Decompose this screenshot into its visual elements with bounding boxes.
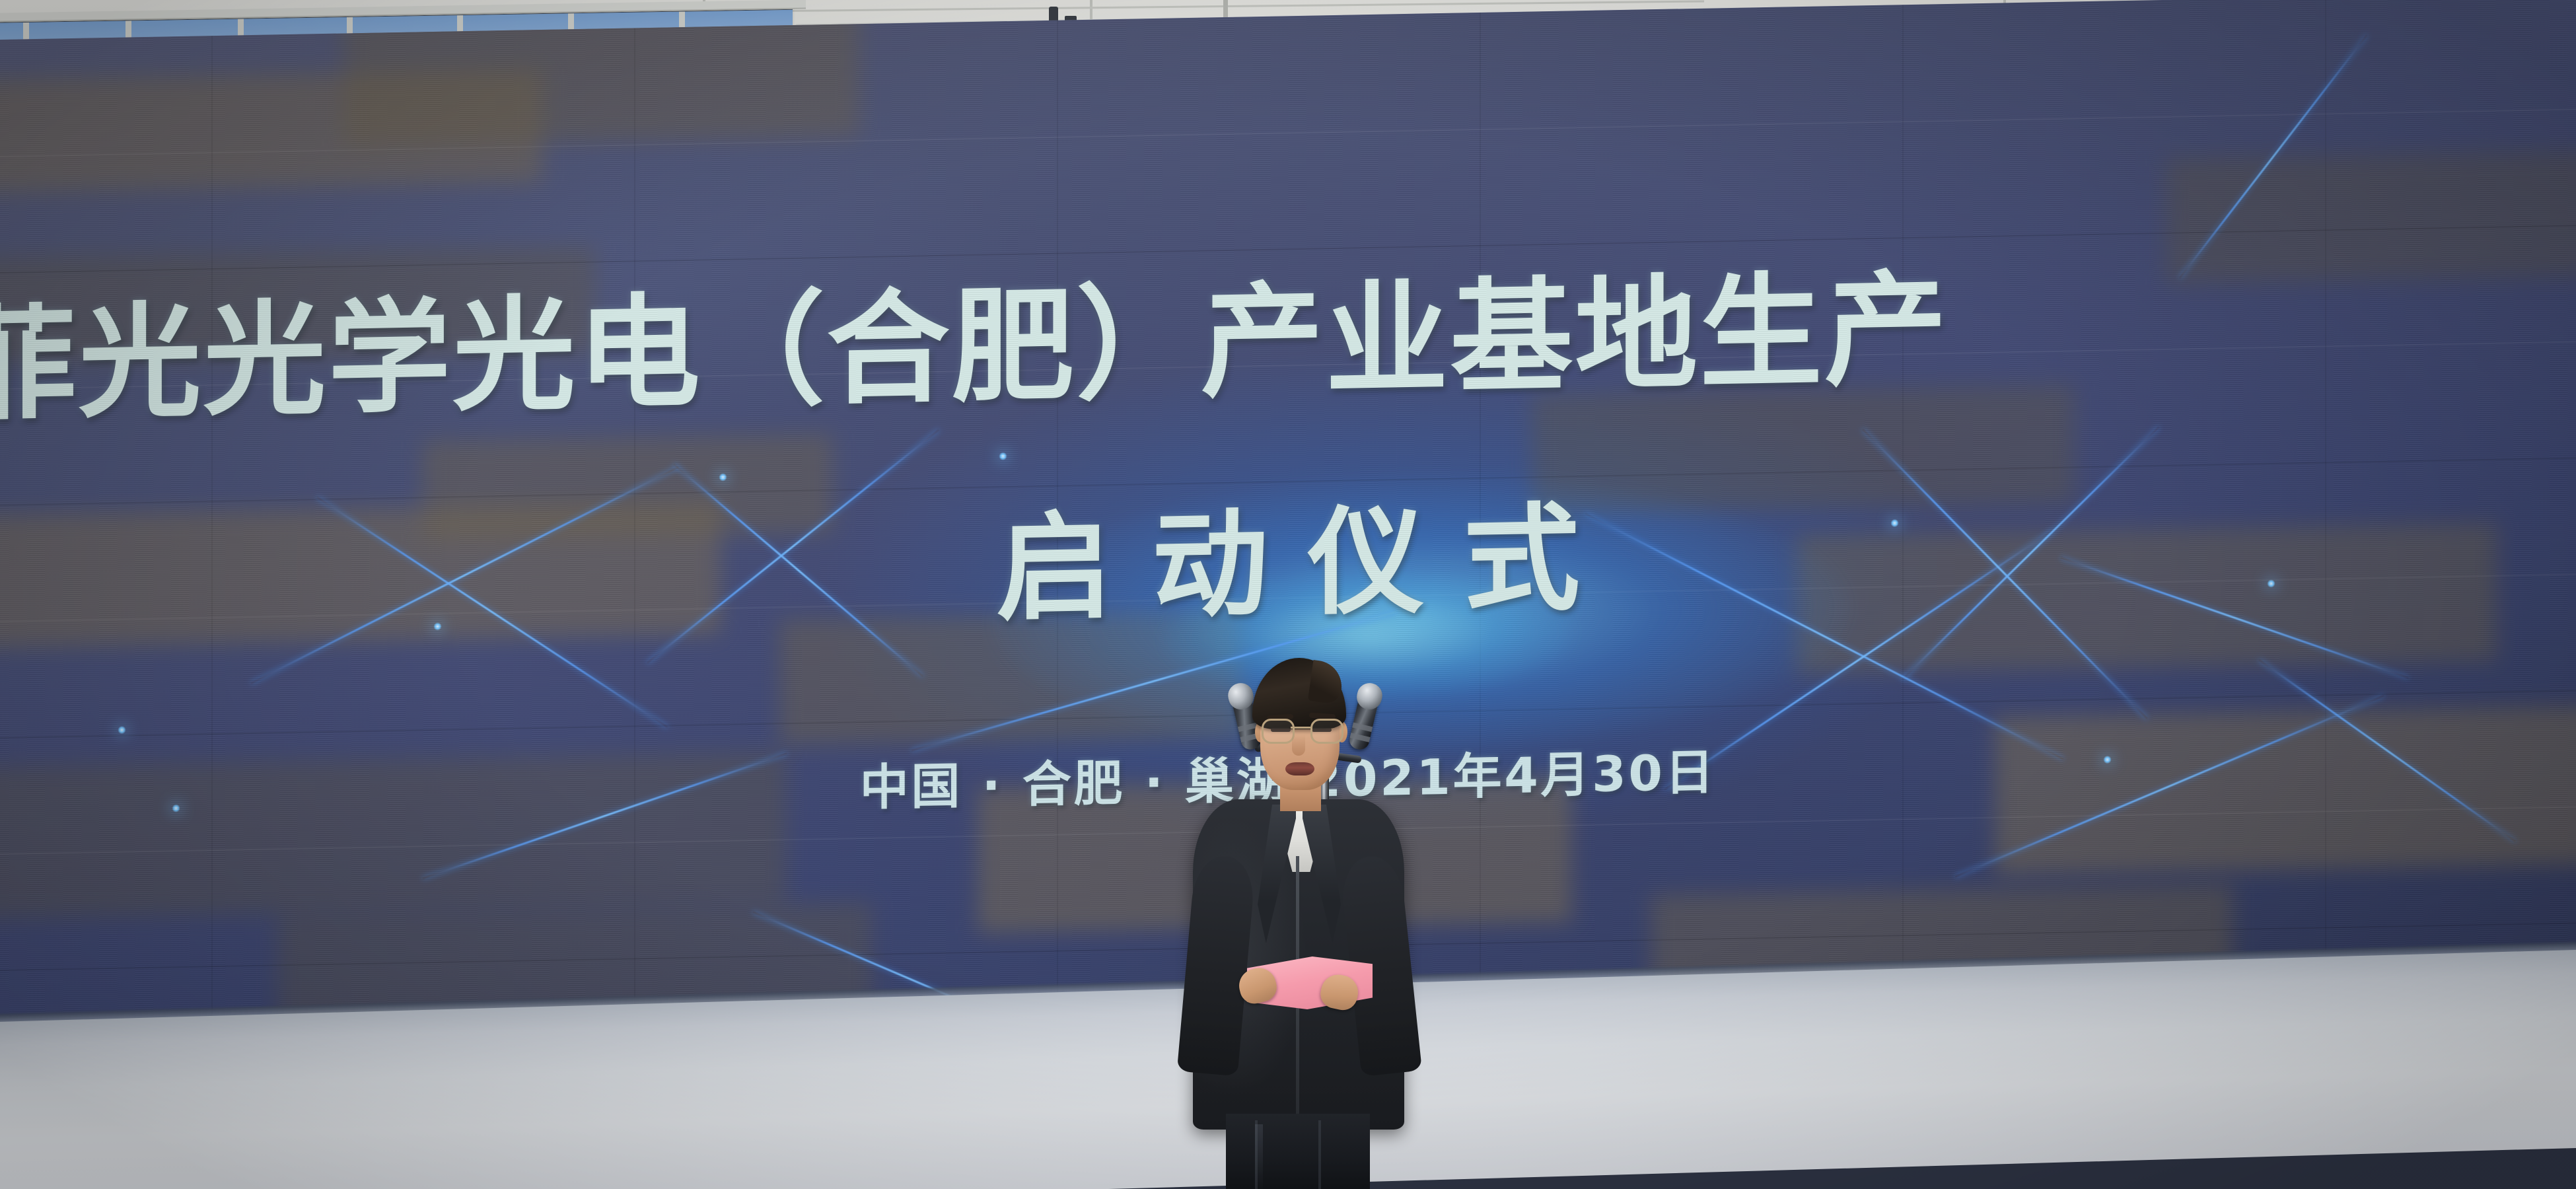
glasses-bridge bbox=[1291, 727, 1310, 729]
screen-network-node bbox=[118, 725, 126, 734]
trouser-crease-left bbox=[1255, 1120, 1258, 1189]
screen-network-node bbox=[999, 452, 1007, 460]
speaker-trousers bbox=[1226, 1114, 1370, 1189]
trouser-crease-right bbox=[1318, 1120, 1321, 1189]
speaker-person bbox=[1186, 658, 1411, 1189]
photo-scene: 菲光光学光电（合肥）产业基地生产 启动仪式 中国 · 合肥 · 巢湖 2021年… bbox=[0, 0, 2576, 1189]
speaker-mouth bbox=[1285, 762, 1314, 775]
glasses-lens-left bbox=[1262, 719, 1295, 744]
speaker-nose bbox=[1292, 735, 1305, 756]
glasses-lens-right bbox=[1310, 719, 1343, 744]
